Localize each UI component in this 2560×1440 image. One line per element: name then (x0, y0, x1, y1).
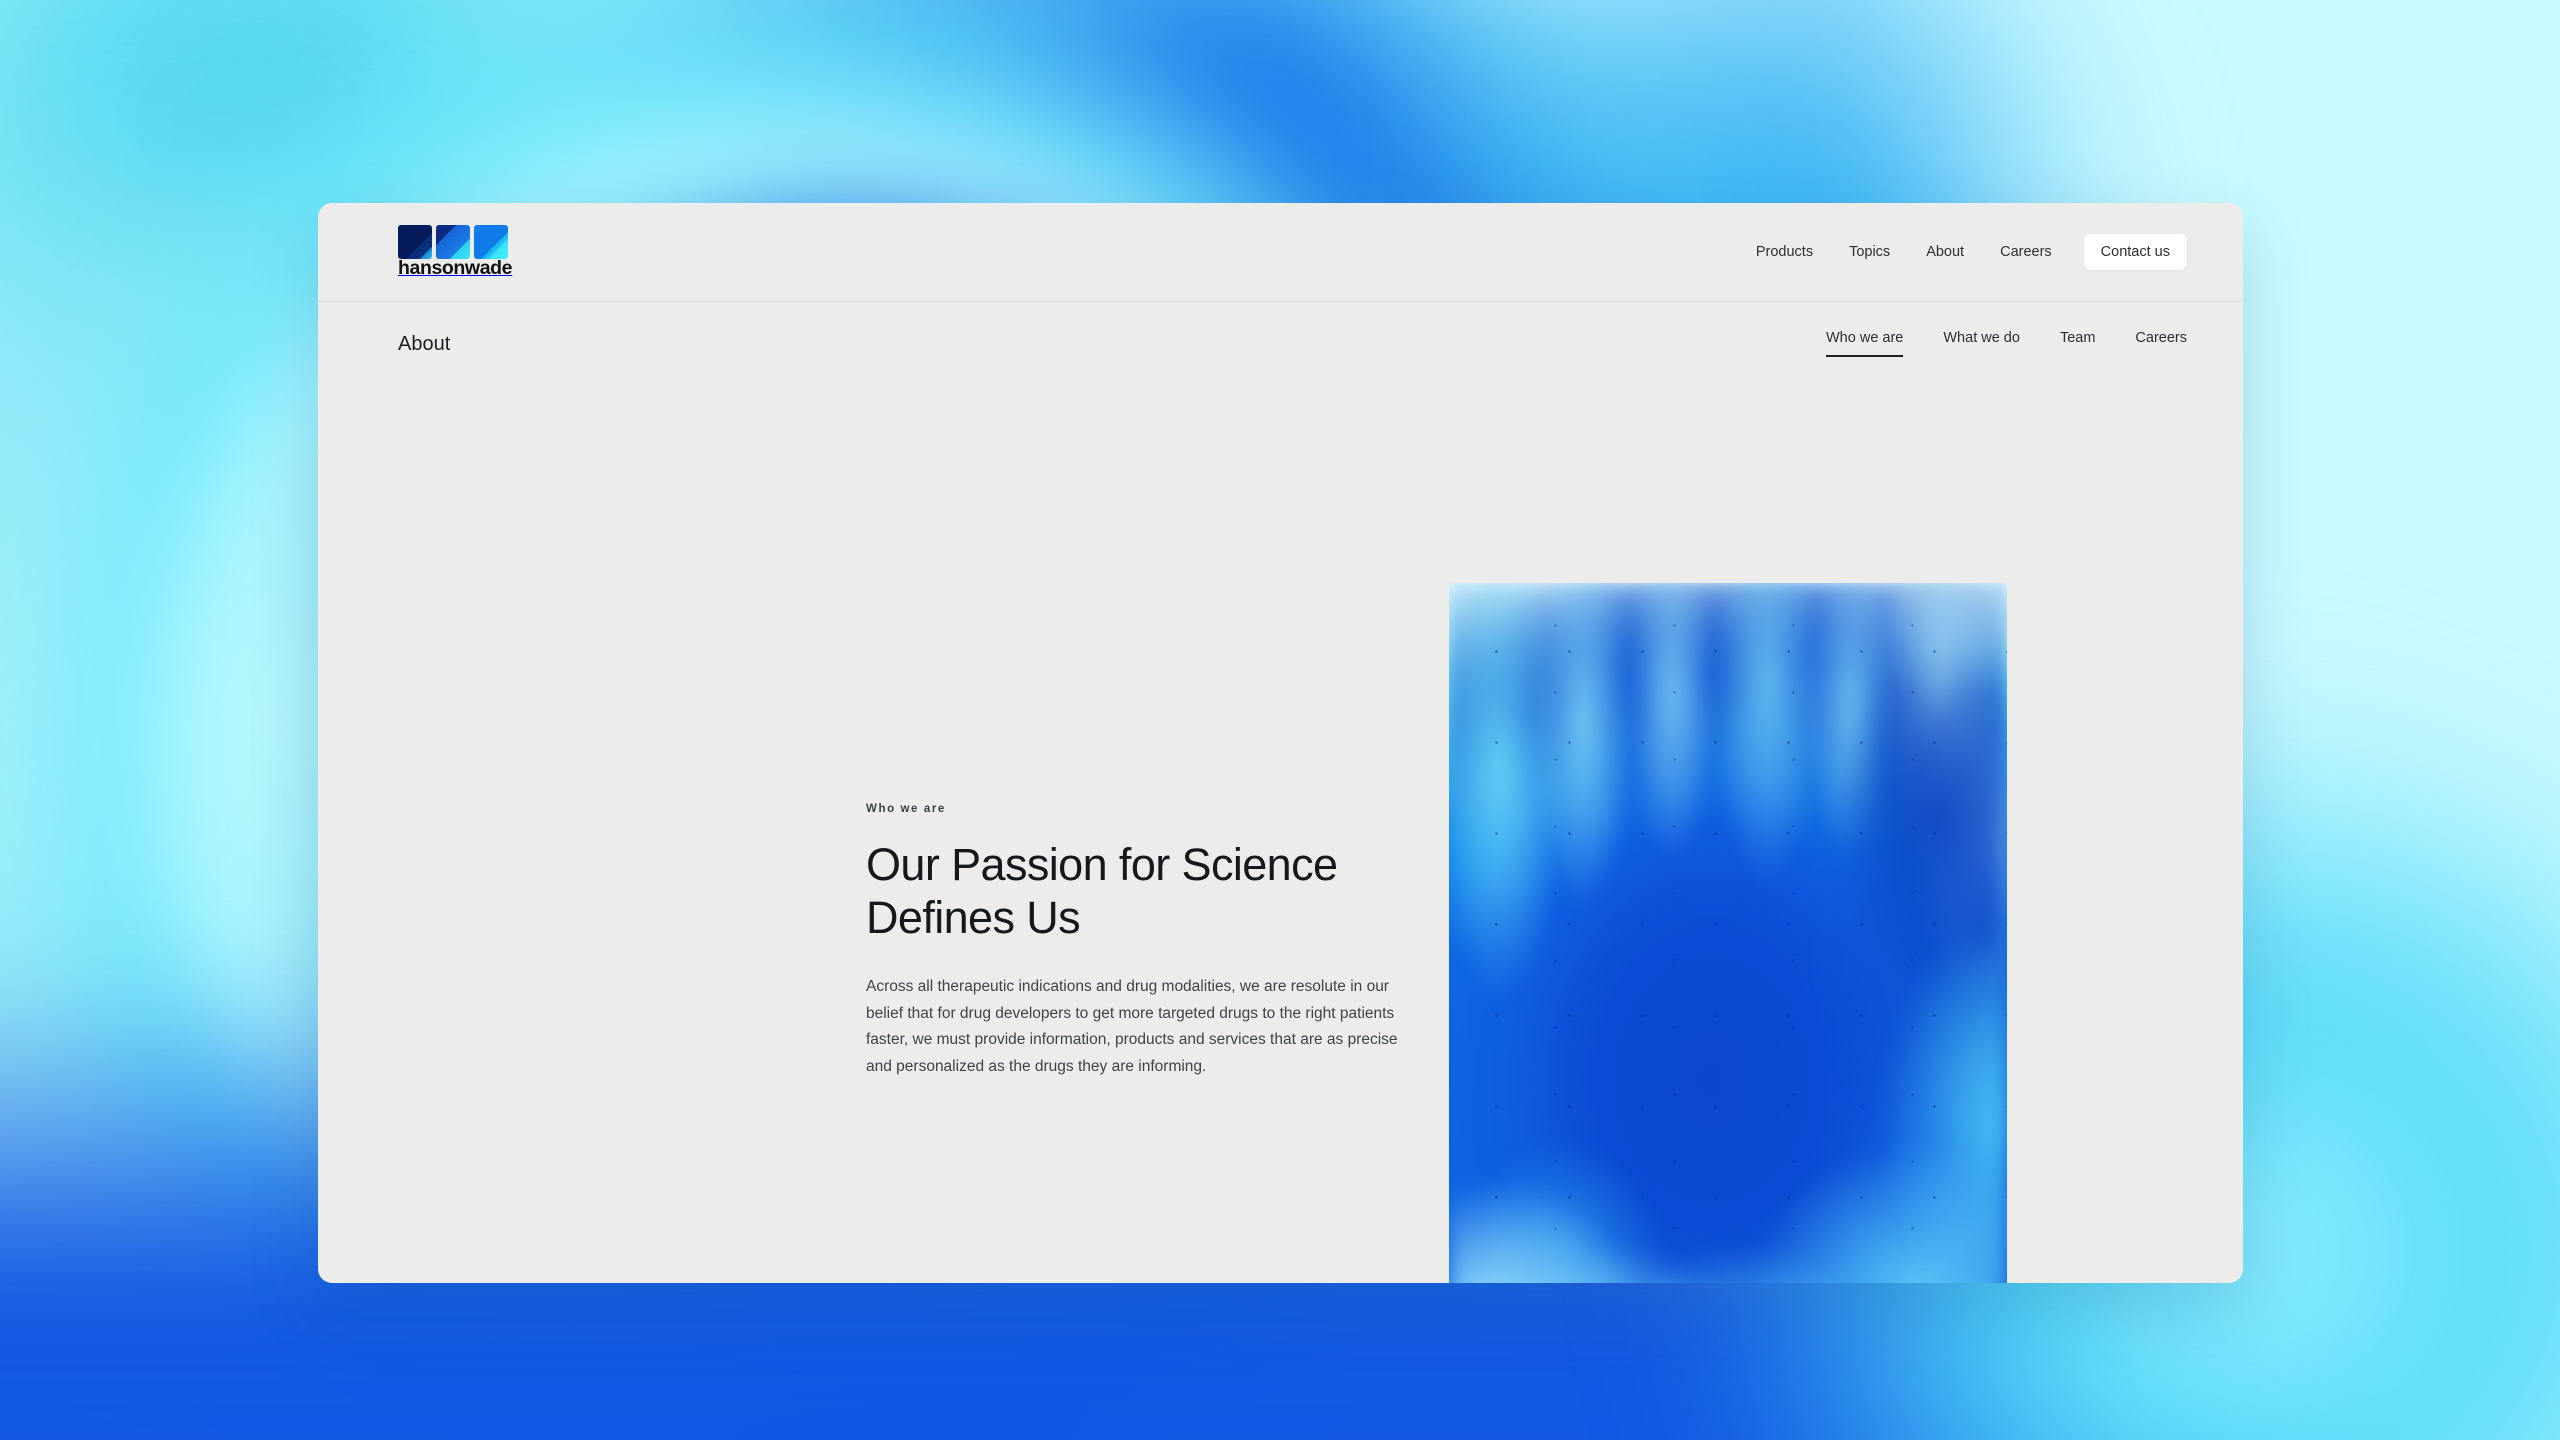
hero-copy: Who we are Our Passion for Science Defin… (866, 804, 1426, 1081)
contact-us-button[interactable]: Contact us (2084, 234, 2187, 271)
ink-layer-specks (1449, 583, 2007, 1283)
site-header: hansonwade Products Topics About Careers… (318, 203, 2243, 302)
brand-logo[interactable]: hansonwade (398, 225, 508, 279)
logo-tiles (398, 225, 508, 259)
nav-item-topics[interactable]: Topics (1831, 245, 1908, 260)
hero-heading: Our Passion for Science Defines Us (866, 838, 1406, 944)
sub-nav-item-team[interactable]: Team (2060, 331, 2095, 358)
hero-section: Who we are Our Passion for Science Defin… (318, 386, 2243, 1280)
nav-item-careers[interactable]: Careers (1982, 245, 2070, 260)
page-title: About (398, 334, 450, 354)
hero-ink-image (1449, 583, 2007, 1283)
nav-item-products[interactable]: Products (1738, 245, 1831, 260)
hero-eyebrow: Who we are (866, 804, 1426, 816)
nav-item-about[interactable]: About (1908, 245, 1982, 260)
sub-nav-item-what-we-do[interactable]: What we do (1943, 331, 2020, 358)
section-sub-navigation: About Who we are What we do Team Careers (318, 302, 2243, 386)
sub-nav-item-careers[interactable]: Careers (2135, 331, 2187, 358)
brand-wordmark: hansonwade (398, 257, 512, 279)
logo-tile-icon-1 (398, 225, 432, 259)
hero-paragraph: Across all therapeutic indications and d… (866, 974, 1426, 1081)
sub-nav-links: Who we are What we do Team Careers (1826, 331, 2187, 358)
logo-tile-icon-3 (474, 225, 508, 259)
sub-nav-item-who-we-are[interactable]: Who we are (1826, 331, 1903, 358)
primary-navigation: Products Topics About Careers Contact us (1738, 234, 2187, 271)
logo-tile-icon-2 (436, 225, 470, 259)
browser-window: hansonwade Products Topics About Careers… (318, 203, 2243, 1283)
